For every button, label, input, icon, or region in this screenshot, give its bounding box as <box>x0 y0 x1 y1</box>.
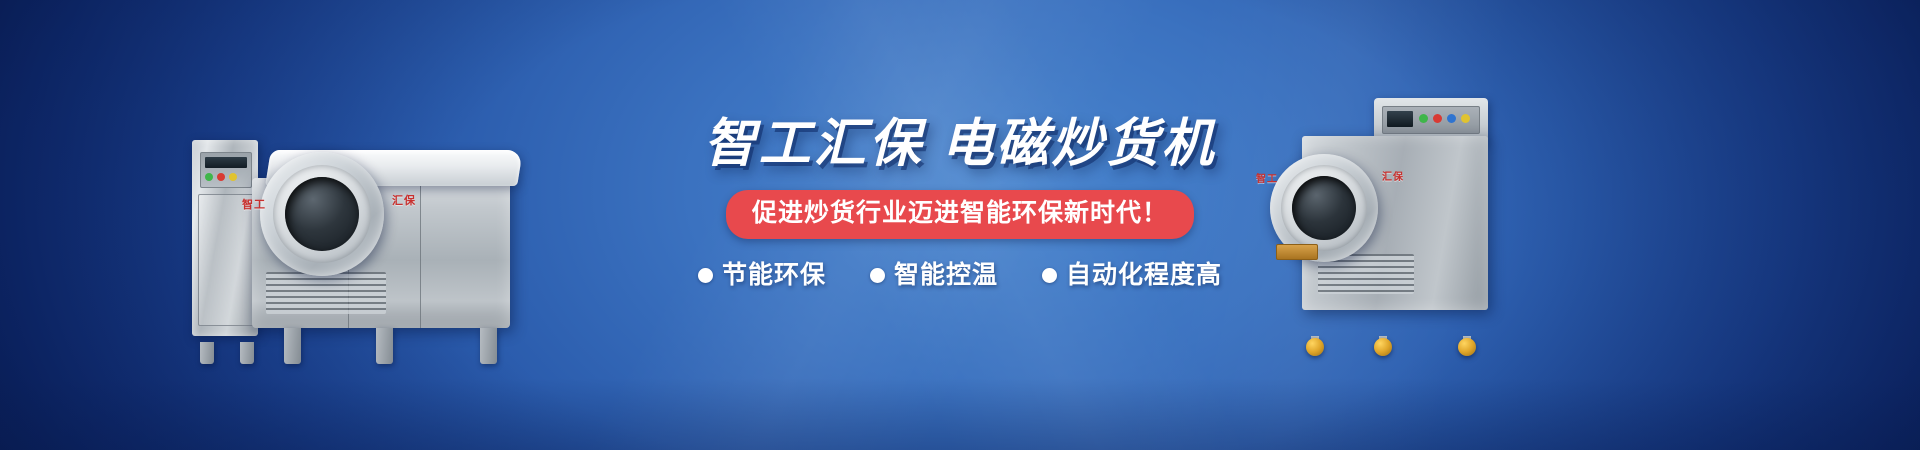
feature-item-smart-temperature: 智能控温 <box>870 263 998 288</box>
bullet-dot-icon <box>870 268 885 283</box>
ventilation-louvers <box>266 272 386 314</box>
drum-opening <box>285 177 359 251</box>
drum-opening <box>1292 176 1356 240</box>
support-leg <box>200 342 214 364</box>
banner-badge-row: 促进炒货行业迈进智能环保新时代！ <box>640 190 1280 239</box>
banner-tagline-badge: 促进炒货行业迈进智能环保新时代！ <box>726 190 1194 239</box>
bullet-dot-icon <box>1042 268 1057 283</box>
brand-mark-left: 智工 <box>242 196 266 212</box>
support-leg <box>284 328 301 364</box>
control-panel <box>200 152 252 188</box>
product-image-compact-roaster: 智工 汇保 <box>1270 98 1510 356</box>
cabinet-door <box>198 194 254 326</box>
indicator-lights <box>1419 114 1470 123</box>
brand-mark-right: 汇保 <box>392 192 416 208</box>
roasting-drum <box>260 152 384 276</box>
brass-nameplate <box>1276 244 1318 260</box>
feature-label: 节能环保 <box>722 263 826 288</box>
control-cabinet <box>192 140 258 336</box>
feature-label: 自动化程度高 <box>1066 263 1222 288</box>
support-leg <box>376 328 393 364</box>
feature-label: 智能控温 <box>894 263 998 288</box>
feature-item-automation: 自动化程度高 <box>1042 263 1222 288</box>
feature-list: 节能环保 智能控温 自动化程度高 <box>640 263 1280 288</box>
brand-mark-right: 汇保 <box>1382 168 1404 183</box>
indicator-lights <box>205 173 237 181</box>
caster-wheel <box>1374 336 1392 356</box>
display-screen <box>1387 111 1413 127</box>
promo-banner: 智工 汇保 智工 汇保 <box>0 0 1920 450</box>
floor-shadow <box>0 378 1920 450</box>
feature-item-energy-saving: 节能环保 <box>698 263 826 288</box>
product-image-large-roaster: 智工 汇保 <box>180 92 580 364</box>
support-leg <box>240 342 254 364</box>
control-panel <box>1382 106 1480 134</box>
caster-wheel <box>1306 336 1324 356</box>
support-leg <box>480 328 497 364</box>
display-screen <box>205 157 247 168</box>
caster-wheel <box>1458 336 1476 356</box>
banner-copy-block: 智工汇保 电磁炒货机 促进炒货行业迈进智能环保新时代！ 节能环保 智能控温 自动… <box>640 118 1280 288</box>
banner-headline: 智工汇保 电磁炒货机 <box>640 118 1280 170</box>
bullet-dot-icon <box>698 268 713 283</box>
